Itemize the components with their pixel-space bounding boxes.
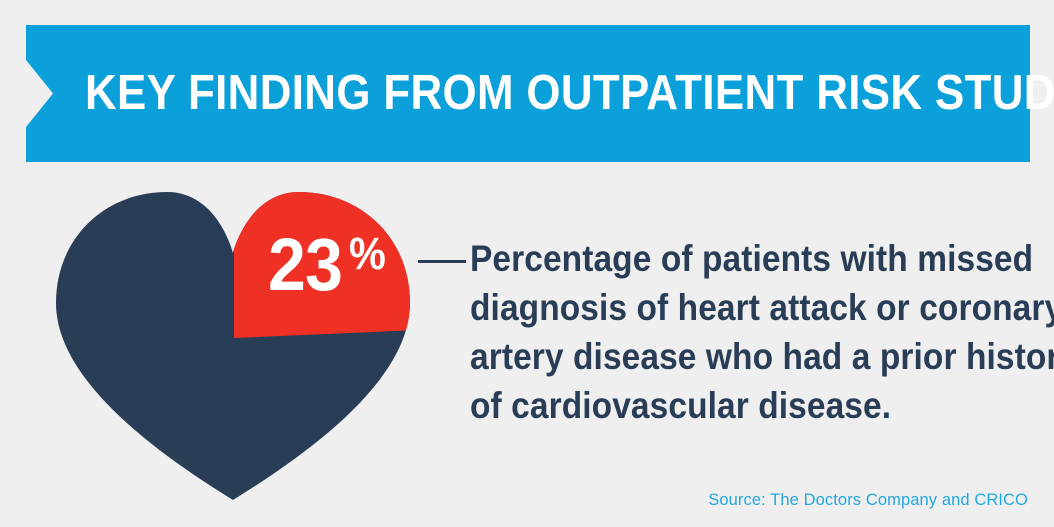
callout-line: Percentage of patients with missed [470, 234, 977, 283]
callout-line: artery disease who had a prior history [470, 332, 977, 381]
header-banner: KEY FINDING FROM OUTPATIENT RISK STUDY [26, 25, 1030, 162]
infographic-canvas: KEY FINDING FROM OUTPATIENT RISK STUDY 2… [0, 0, 1054, 527]
callout-description: Percentage of patients with missed diagn… [470, 234, 1030, 430]
callout-connector-line [418, 260, 466, 263]
value-number: 23 [268, 228, 342, 302]
callout-line: of cardiovascular disease. [470, 381, 977, 430]
source-credit: Source: The Doctors Company and CRICO [708, 491, 1028, 510]
value-callout: 23 % [268, 228, 389, 302]
callout-line: diagnosis of heart attack or coronary [470, 283, 977, 332]
value-percent-sign: % [349, 231, 386, 276]
page-title: KEY FINDING FROM OUTPATIENT RISK STUDY [85, 25, 1054, 162]
